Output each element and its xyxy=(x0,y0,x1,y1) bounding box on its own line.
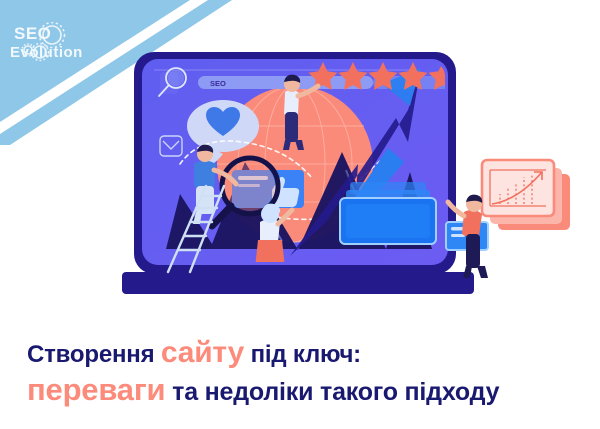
headline-line-2: переваги та недоліки такого підходу xyxy=(27,375,583,407)
browser-window-cards[interactable] xyxy=(340,182,436,244)
headline: Створення сайту під ключ: переваги та не… xyxy=(27,338,583,407)
headline-l2-part-2: та недоліки такого підходу xyxy=(165,378,499,406)
logo-text-seo: SEO xyxy=(14,24,51,44)
search-query-text: SEO xyxy=(210,79,226,88)
headline-l1-part-3: під ключ: xyxy=(244,341,361,368)
headline-l1-part-1: Створення xyxy=(27,341,161,368)
headline-line-1: Створення сайту під ключ: xyxy=(27,338,583,370)
logo-text-evolution: Evolution xyxy=(10,44,83,61)
poster-canvas: SEO Evolution xyxy=(0,0,600,429)
headline-l1-accent: сайту xyxy=(161,336,244,369)
chart-cards-stack xyxy=(482,160,570,230)
seo-illustration: SEO xyxy=(120,44,590,306)
headline-l2-accent: переваги xyxy=(27,372,165,407)
logo[interactable]: SEO Evolution xyxy=(8,22,103,68)
laptop-base xyxy=(122,272,474,294)
